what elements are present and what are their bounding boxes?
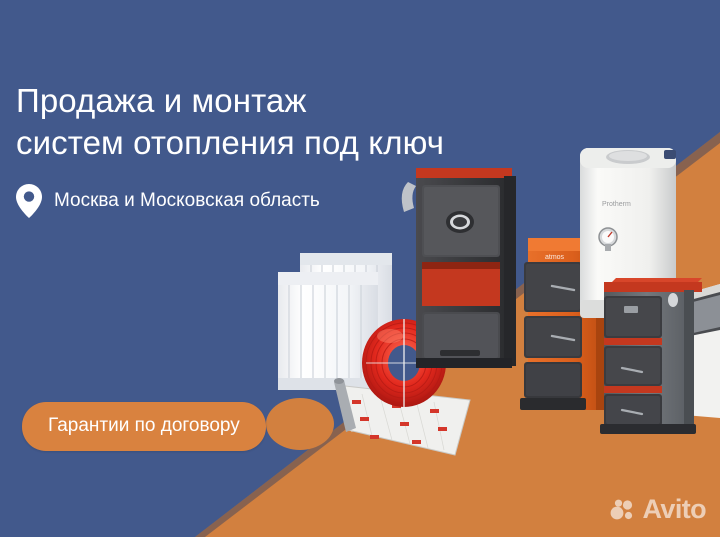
map-pin-icon [16, 184, 42, 218]
location-row: Москва и Московская область [16, 184, 320, 218]
avito-watermark: Avito [610, 496, 707, 523]
svg-text:atmos: atmos [545, 254, 565, 261]
guarantee-button[interactable]: Гарантии по договору [22, 402, 266, 451]
svg-text:Protherm: Protherm [602, 201, 631, 208]
grey-red-top-boiler [600, 278, 702, 434]
headline-line-1: Продажа и монтаж [16, 82, 307, 119]
page-title: Продажа и монтаж систем отопления под кл… [16, 38, 556, 206]
location-label: Москва и Московская область [54, 189, 320, 213]
avito-dots-icon [610, 499, 636, 521]
headline-line-2: систем отопления под ключ [16, 122, 556, 164]
advertisement-banner: atmos Protherm [0, 0, 720, 537]
avito-wordmark: Avito [643, 496, 707, 523]
